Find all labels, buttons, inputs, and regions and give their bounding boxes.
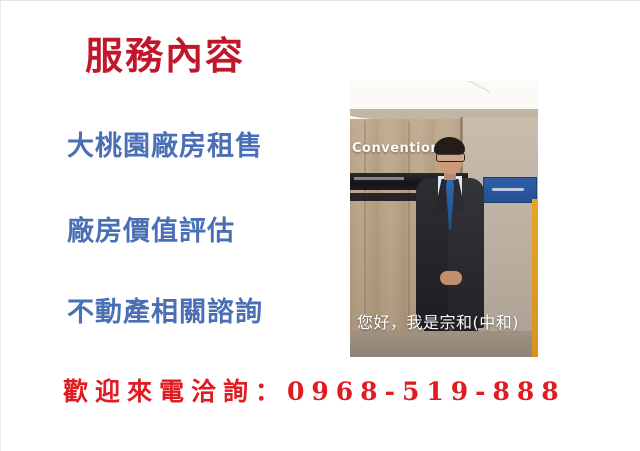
contact-phone-line: 歡迎來電洽詢：0968-519-888 xyxy=(63,372,566,408)
service-item-2: 廠房價值評估 xyxy=(67,217,235,247)
service-item-3: 不動產相關諮詢 xyxy=(67,298,263,328)
photo-caption: 您好，我是宗和(中和) xyxy=(357,309,519,333)
blue-wall-sign xyxy=(483,177,537,203)
photo-dark-band-highlight xyxy=(354,177,404,180)
person-hands xyxy=(440,271,462,285)
photo-accent-strip xyxy=(532,199,538,357)
service-item-1: 大桃園廠房租售 xyxy=(67,132,263,162)
eyeglasses-icon xyxy=(436,153,465,162)
page-title: 服務內容 xyxy=(85,35,245,77)
slide-canvas: 服務內容 大桃園廠房租售 廠房價值評估 不動產相關諮詢 歡迎來電洽詢：0968-… xyxy=(0,0,640,451)
photo-floor xyxy=(350,331,538,357)
